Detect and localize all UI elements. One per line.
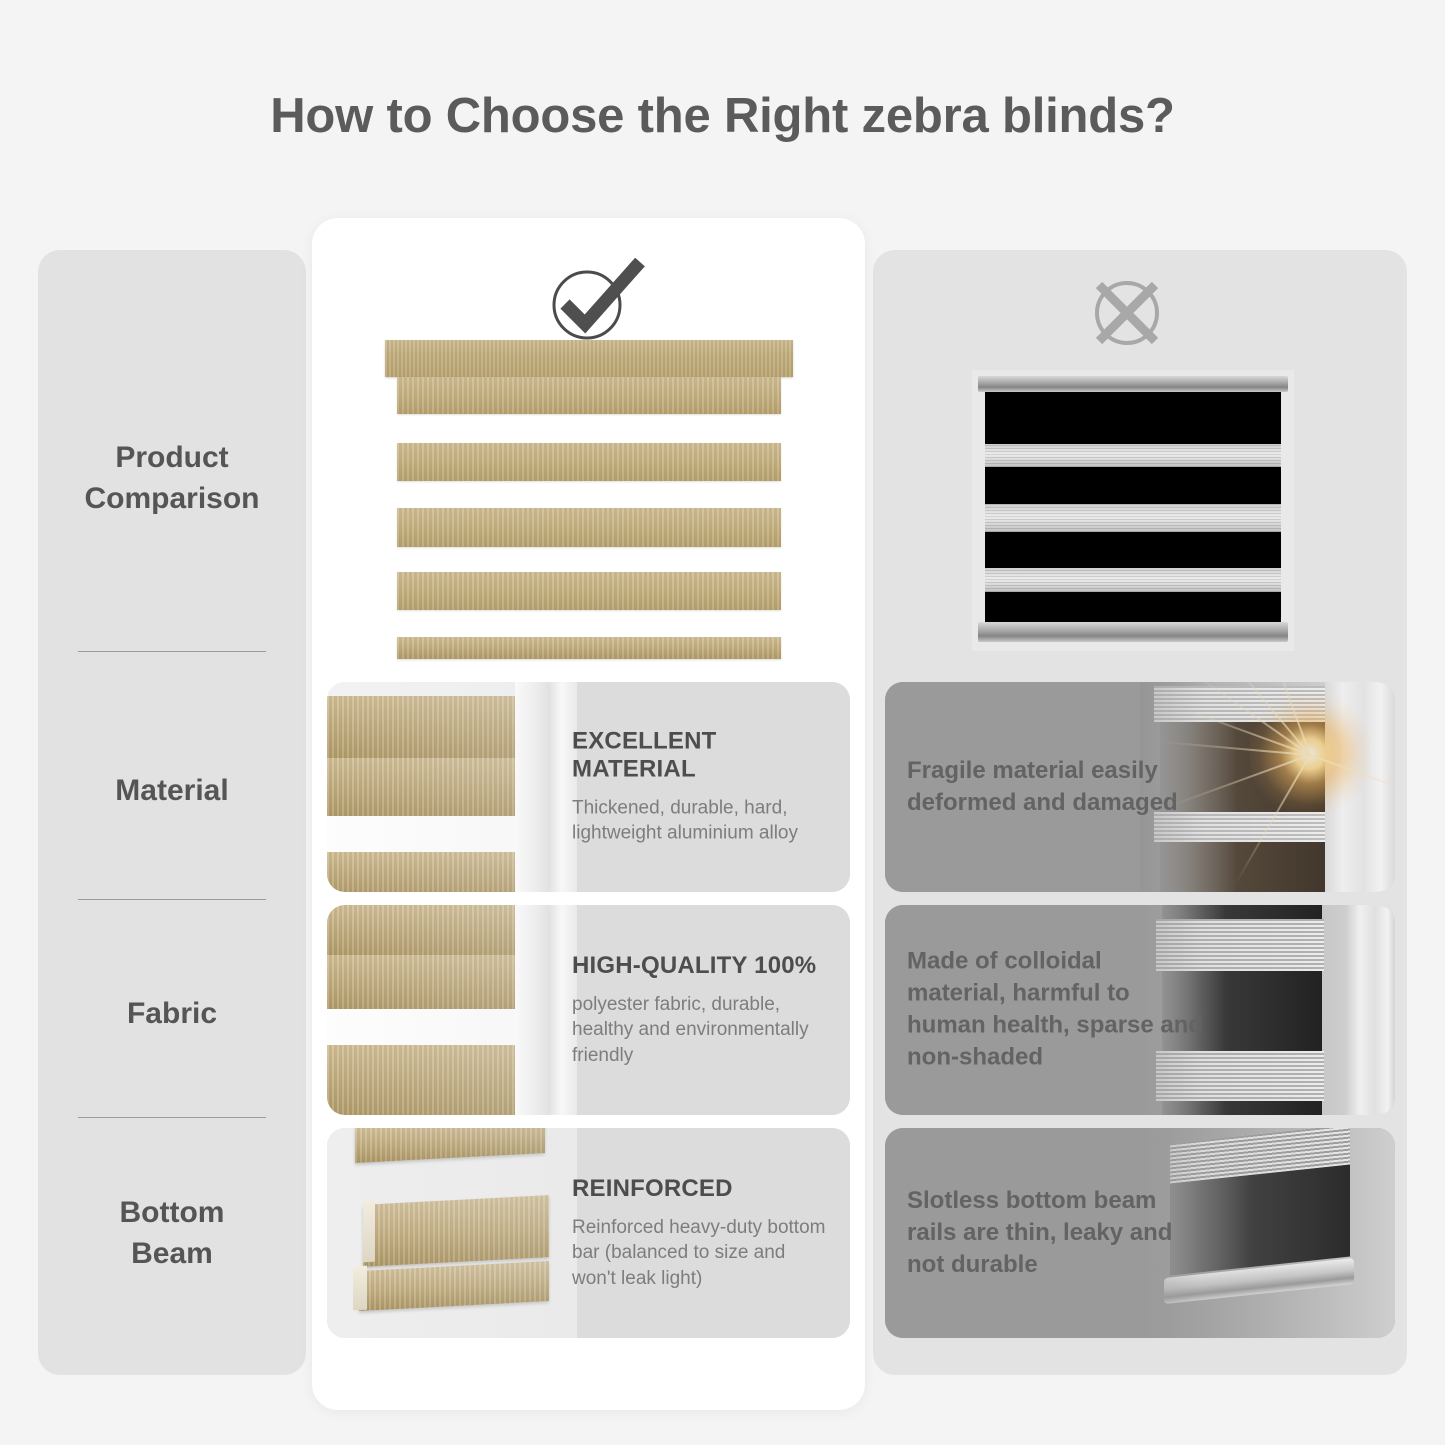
label-divider <box>78 899 266 900</box>
blind-bottom-rail <box>397 637 781 659</box>
blind-fabric-body <box>985 392 1281 622</box>
cross-circle-icon <box>1085 272 1170 352</box>
row-label-fabric: Fabric <box>38 993 306 1034</box>
row-label-material: Material <box>38 770 306 811</box>
good-bottom-beam-description: Reinforced heavy-duty bottom bar (balanc… <box>572 1215 834 1291</box>
bad-bottom-beam-label: Slotless bottom beam rails are thin, lea… <box>907 1185 1207 1281</box>
blind-sheer-band <box>985 504 1281 532</box>
good-bottom-beam-text: REINFORCED Reinforced heavy-duty bottom … <box>572 1175 834 1291</box>
blind-slat <box>397 572 781 610</box>
label-divider <box>78 1117 266 1118</box>
bad-row-fabric: Made of colloidal material, harmful to h… <box>885 905 1395 1115</box>
row-label-line2: Comparison <box>38 478 306 519</box>
good-fabric-text: HIGH-QUALITY 100% polyester fabric, dura… <box>572 952 834 1068</box>
good-row-bottom-beam: REINFORCED Reinforced heavy-duty bottom … <box>327 1128 850 1338</box>
good-fabric-photo <box>327 905 577 1115</box>
blind-headrail <box>978 376 1288 392</box>
blind-bottom-rail <box>978 622 1288 642</box>
good-fabric-description: polyester fabric, durable, healthy and e… <box>572 992 834 1068</box>
blind-headrail <box>385 340 793 377</box>
good-material-photo <box>327 682 577 892</box>
bad-row-material: Fragile material easily deformed and dam… <box>885 682 1395 892</box>
blind-slat <box>397 508 781 547</box>
good-material-heading: EXCELLENT MATERIAL <box>572 728 834 784</box>
bad-fabric-label: Made of colloidal material, harmful to h… <box>907 946 1207 1075</box>
good-material-description: Thickened, durable, hard, lightweight al… <box>572 796 834 847</box>
bad-hero-blind-image <box>972 370 1294 651</box>
good-row-material: EXCELLENT MATERIAL Thickened, durable, h… <box>327 682 850 892</box>
good-material-text: EXCELLENT MATERIAL Thickened, durable, h… <box>572 728 834 847</box>
good-bottom-beam-photo <box>327 1128 577 1338</box>
good-hero-blind-image <box>385 340 793 665</box>
good-fabric-heading: HIGH-QUALITY 100% <box>572 952 834 980</box>
bad-bottom-beam-text: Slotless bottom beam rails are thin, lea… <box>907 1185 1207 1281</box>
row-label-line1: Bottom <box>38 1192 306 1233</box>
blind-sheer-band <box>985 444 1281 467</box>
blind-slat <box>397 377 781 414</box>
blind-sheer-band <box>985 568 1281 592</box>
good-bottom-beam-heading: REINFORCED <box>572 1175 834 1203</box>
bad-material-text: Fragile material easily deformed and dam… <box>907 755 1207 819</box>
label-divider <box>78 651 266 652</box>
bad-material-label: Fragile material easily deformed and dam… <box>907 755 1207 819</box>
bad-fabric-text: Made of colloidal material, harmful to h… <box>907 946 1207 1075</box>
check-circle-icon <box>540 258 650 343</box>
blind-slat <box>397 443 781 481</box>
page-title: How to Choose the Right zebra blinds? <box>0 88 1445 144</box>
row-label-bottom-beam: Bottom Beam <box>38 1192 306 1275</box>
row-label-product-comparison: Product Comparison <box>38 437 306 520</box>
bad-row-bottom-beam: Slotless bottom beam rails are thin, lea… <box>885 1128 1395 1338</box>
row-label-line2: Beam <box>38 1233 306 1274</box>
good-row-fabric: HIGH-QUALITY 100% polyester fabric, dura… <box>327 905 850 1115</box>
row-label-line1: Product <box>38 437 306 478</box>
